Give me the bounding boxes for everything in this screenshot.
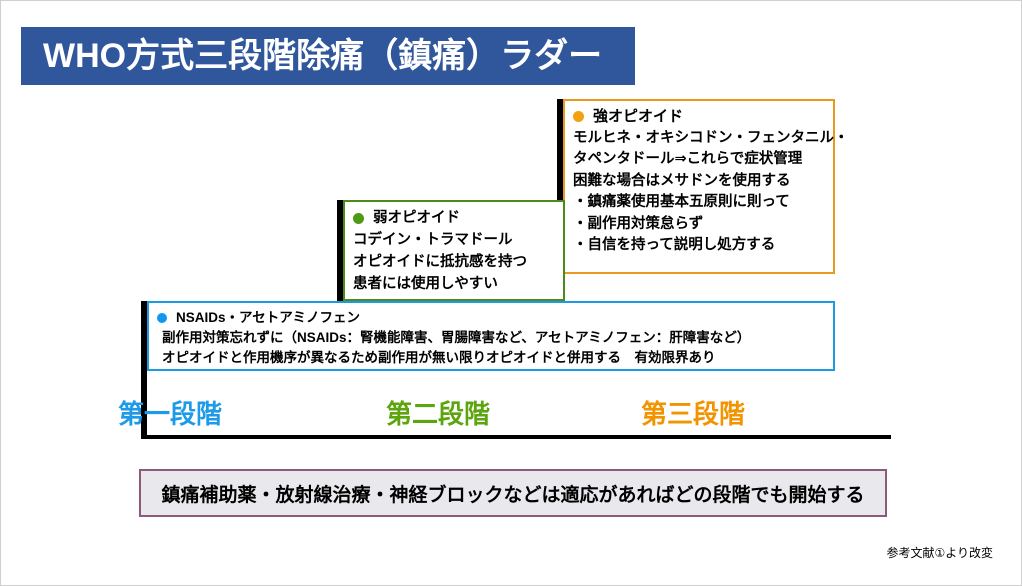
step2-heading-row: 弱オピオイド: [353, 207, 555, 229]
step3-line-6: ・自信を持って説明し処方する: [573, 235, 825, 257]
stage-label-step2: 第二段階: [386, 401, 490, 427]
step3-heading-row: 強オピオイド: [573, 106, 825, 128]
step2-line-2: オピオイドに抵抗感を持つ: [353, 251, 555, 273]
step1-line-2: オピオイドと作用機序が異なるため副作用が無い限りオピオイドと併用する 有効限界あ…: [157, 348, 825, 368]
step3-heading: 強オピオイド: [593, 106, 683, 128]
step2-heading: 弱オピオイド: [373, 207, 460, 229]
filled-circle-bullet-icon: [157, 313, 167, 323]
step3-line-3: 困難な場合はメサドンを使用する: [573, 171, 825, 193]
page-title: WHO方式三段階除痛（鎮痛）ラダー: [43, 39, 602, 73]
ladder-baseline: [141, 435, 891, 439]
step-box-step2[interactable]: 弱オピオイド コデイン・トラマドール オピオイドに抵抗感を持つ 患者には使用しや…: [343, 200, 565, 301]
filled-circle-bullet-icon: [573, 111, 584, 122]
step3-line-1: モルヒネ・オキシコドン・フェンタニル・: [573, 128, 825, 150]
step1-heading-row: NSAIDs・アセトアミノフェン: [157, 308, 825, 328]
step-box-step1[interactable]: NSAIDs・アセトアミノフェン 副作用対策忘れずに（NSAIDs：腎機能障害、…: [147, 301, 835, 371]
who-pain-ladder-slide: WHO方式三段階除痛（鎮痛）ラダー 強オピオイド モルヒネ・オキシコドン・フェン…: [0, 0, 1022, 586]
filled-circle-bullet-icon: [353, 213, 364, 224]
footer-credit: 参考文献①より改変: [886, 544, 993, 561]
step2-line-3: 患者には使用しやすい: [353, 273, 555, 295]
stage-label-step3: 第三段階: [641, 401, 745, 427]
stage-label-step1: 第一段階: [118, 401, 222, 427]
step3-line-2: タペンタドール⇒これらで症状管理: [573, 149, 825, 171]
bottom-note-box[interactable]: 鎮痛補助薬・放射線治療・神経ブロックなどは適応があればどの段階でも開始する: [139, 469, 887, 517]
step3-line-5: ・副作用対策怠らず: [573, 214, 825, 236]
step3-line-4: ・鎮痛薬使用基本五原則に則って: [573, 192, 825, 214]
step-box-step3[interactable]: 強オピオイド モルヒネ・オキシコドン・フェンタニル・ タペンタドール⇒これらで症…: [563, 99, 835, 274]
step1-heading: NSAIDs・アセトアミノフェン: [176, 308, 360, 328]
bottom-note-text: 鎮痛補助薬・放射線治療・神経ブロックなどは適応があればどの段階でも開始する: [161, 480, 864, 507]
step2-line-1: コデイン・トラマドール: [353, 229, 555, 251]
slide-title-banner: WHO方式三段階除痛（鎮痛）ラダー: [21, 27, 635, 85]
step1-line-1: 副作用対策忘れずに（NSAIDs：腎機能障害、胃腸障害など、アセトアミノフェン：…: [157, 328, 825, 348]
